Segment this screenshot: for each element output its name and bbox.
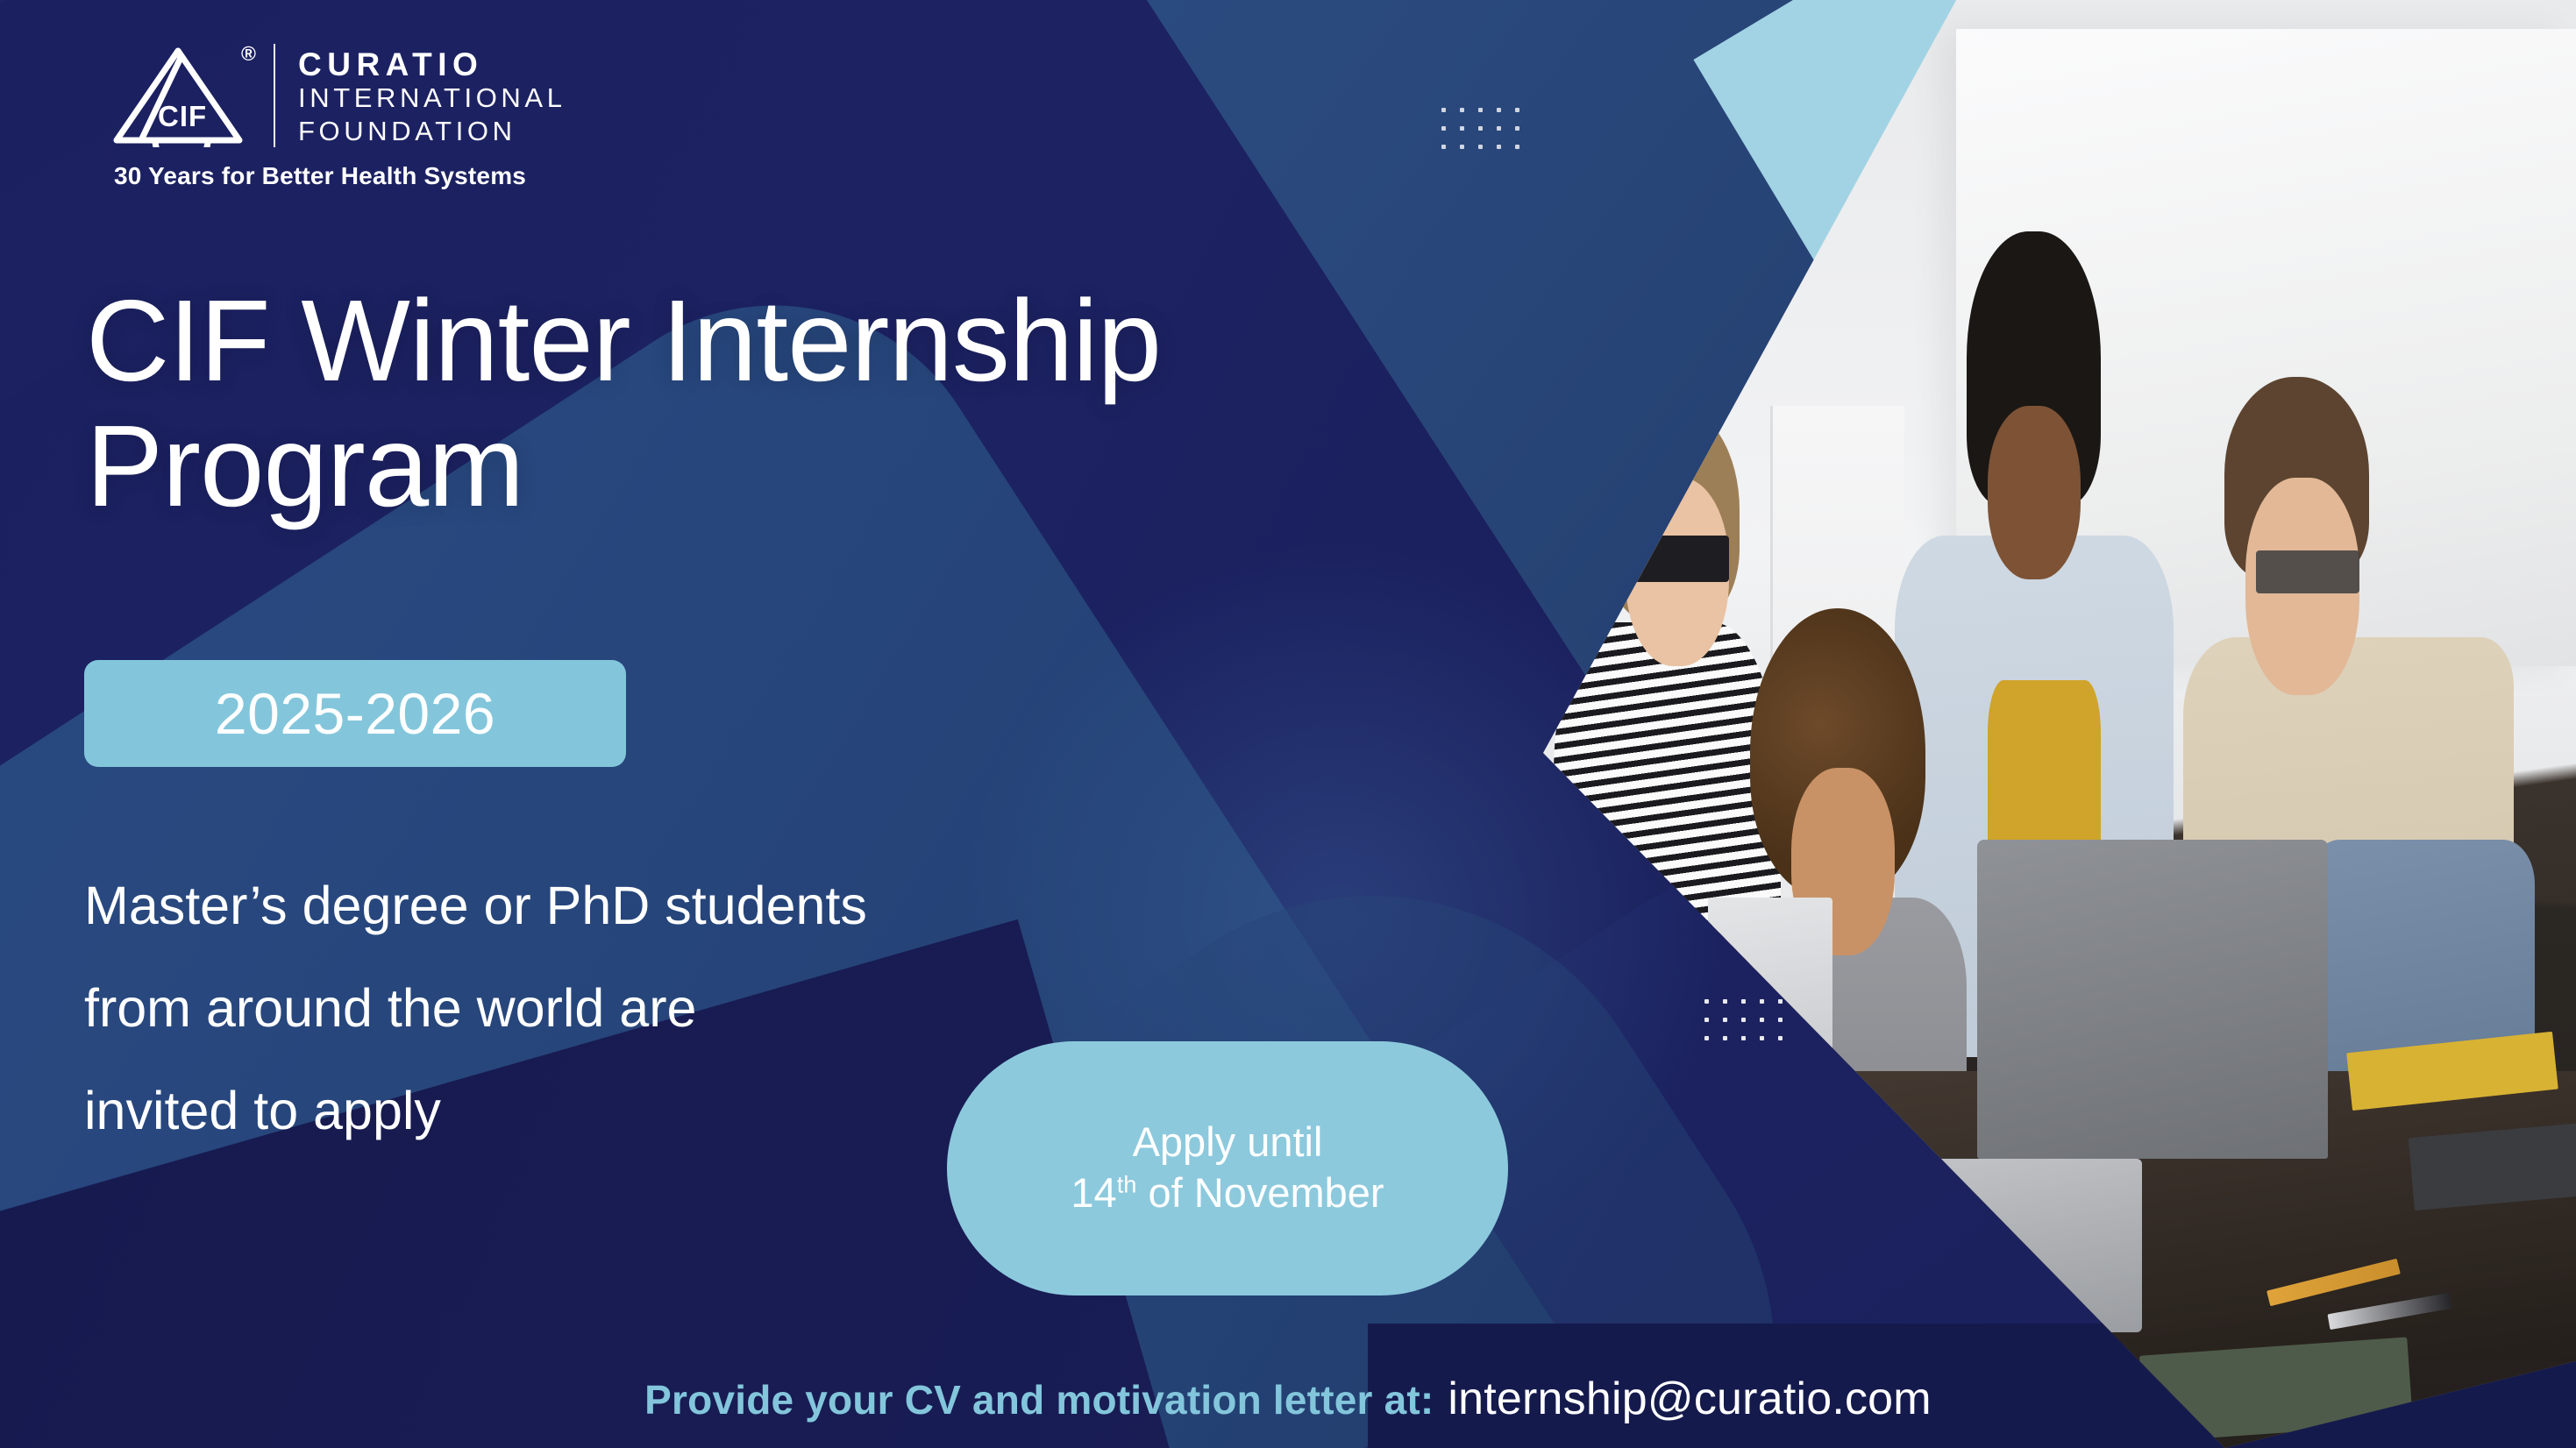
apply-deadline-line2: 14th of November bbox=[1071, 1166, 1384, 1219]
brand-name-foundation: FOUNDATION bbox=[298, 115, 566, 148]
cif-triangle-logo-icon: CIF ® bbox=[112, 42, 251, 147]
registered-trademark-icon: ® bbox=[241, 44, 256, 64]
apply-deadline-line1: Apply until bbox=[1133, 1118, 1323, 1166]
page-title: CIF Winter Internship Program bbox=[86, 279, 1161, 529]
apply-deadline-badge: Apply until 14th of November bbox=[947, 1041, 1508, 1295]
apply-deadline-month: of November bbox=[1136, 1169, 1384, 1216]
brand-logo: CIF ® CURATIO INTERNATIONAL FOUNDATION 3… bbox=[112, 42, 566, 190]
cif-monogram: CIF bbox=[158, 100, 207, 133]
year-badge-label: 2025-2026 bbox=[215, 680, 495, 747]
apply-deadline-ordinal: th bbox=[1117, 1171, 1137, 1198]
dot-grid-icon bbox=[1441, 108, 1519, 149]
brand-tagline: 30 Years for Better Health Systems bbox=[114, 162, 566, 190]
year-badge: 2025-2026 bbox=[84, 660, 626, 767]
photo-person3-face bbox=[1988, 406, 2081, 579]
brand-name-curatio: CURATIO bbox=[298, 47, 566, 82]
logo-divider bbox=[274, 44, 275, 147]
dot-grid-icon bbox=[1704, 999, 1783, 1040]
apply-deadline-day: 14 bbox=[1071, 1169, 1116, 1216]
footer-contact: Provide your CV and motivation letter at… bbox=[0, 1373, 2576, 1425]
internship-poster: CIF ® CURATIO INTERNATIONAL FOUNDATION 3… bbox=[0, 0, 2576, 1448]
contact-email[interactable]: internship@curatio.com bbox=[1448, 1373, 1931, 1425]
photo-laptop-open bbox=[1977, 840, 2329, 1158]
photo-person4-glasses bbox=[2256, 550, 2359, 594]
brand-name-international: INTERNATIONAL bbox=[298, 82, 566, 115]
eligibility-description: Master’s degree or PhD students from aro… bbox=[84, 855, 867, 1162]
footer-instruction: Provide your CV and motivation letter at… bbox=[644, 1376, 1434, 1423]
